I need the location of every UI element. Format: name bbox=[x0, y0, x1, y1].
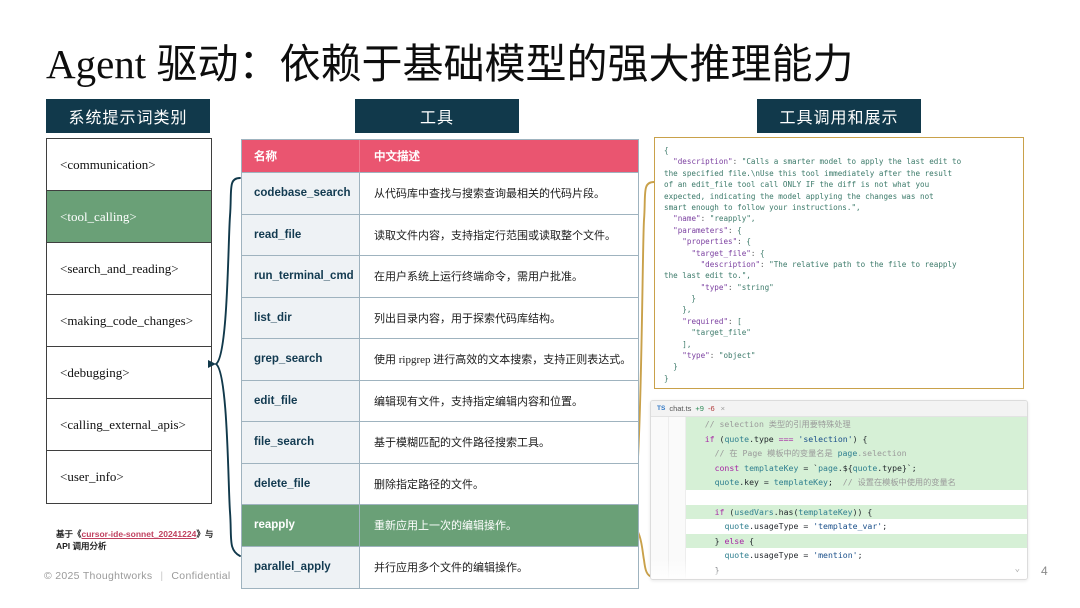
table-row[interactable]: read_file 读取文件内容，支持指定行范围或读取整个文件。 bbox=[242, 215, 638, 257]
category-list: <communication> <tool_calling> <search_a… bbox=[46, 138, 212, 504]
diff-line-added: // 在 Page 模板中的变量名是 page.selection bbox=[651, 446, 1027, 461]
editor-gutter-divider bbox=[668, 417, 669, 580]
tool-desc: 使用 ripgrep 进行高效的文本搜索，支持正则表达式。 bbox=[360, 339, 638, 380]
page-number: 4 bbox=[1041, 564, 1048, 578]
tool-desc: 重新应用上一次的编辑操作。 bbox=[360, 505, 638, 546]
tool-desc: 读取文件内容，支持指定行范围或读取整个文件。 bbox=[360, 215, 638, 256]
footer-separator: | bbox=[160, 570, 163, 582]
diff-line-added: quote.key = templateKey; // 设置在模板中使用的变量名 bbox=[651, 475, 1027, 490]
tool-desc: 在用户系统上运行终端命令，需用户批准。 bbox=[360, 256, 638, 297]
editor-tab-filename: chat.ts bbox=[669, 404, 691, 413]
tool-name: reapply bbox=[242, 505, 360, 546]
table-row-selected-reapply[interactable]: reapply 重新应用上一次的编辑操作。 bbox=[242, 505, 638, 547]
copyright-text: © 2025 Thoughtworks bbox=[44, 570, 152, 582]
category-item-debugging[interactable]: <debugging> bbox=[47, 347, 211, 399]
category-item-user-info[interactable]: <user_info> bbox=[47, 451, 211, 503]
category-item-communication[interactable]: <communication> bbox=[47, 139, 211, 191]
tool-name: list_dir bbox=[242, 298, 360, 339]
category-item-making-code-changes[interactable]: <making_code_changes> bbox=[47, 295, 211, 347]
table-row[interactable]: codebase_search 从代码库中查找与搜索查询最相关的代码片段。 bbox=[242, 173, 638, 215]
footnote-link[interactable]: cursor-ide-sonnet_20241224 bbox=[82, 529, 197, 539]
table-row[interactable]: grep_search 使用 ripgrep 进行高效的文本搜索，支持正则表达式… bbox=[242, 339, 638, 381]
section-header-tools: 工具 bbox=[355, 99, 519, 133]
category-item-tool-calling[interactable]: <tool_calling> bbox=[47, 191, 211, 243]
tool-name: file_search bbox=[242, 422, 360, 463]
tool-desc: 删除指定路径的文件。 bbox=[360, 464, 638, 505]
column-header-name: 名称 bbox=[242, 140, 360, 172]
tool-desc: 并行应用多个文件的编辑操作。 bbox=[360, 547, 638, 589]
diff-line-context: quote.usageType = 'template_var'; bbox=[651, 519, 1027, 534]
column-header-desc: 中文描述 bbox=[360, 140, 638, 172]
section-header-invocation: 工具调用和展示 bbox=[757, 99, 921, 133]
tool-name: delete_file bbox=[242, 464, 360, 505]
editor-fade-overlay bbox=[651, 559, 1027, 580]
table-header-row: 名称 中文描述 bbox=[242, 140, 638, 173]
tools-table: 名称 中文描述 codebase_search 从代码库中查找与搜索查询最相关的… bbox=[241, 139, 639, 589]
diff-deletions-count: -6 bbox=[708, 404, 715, 413]
diff-line-added: // selection 类型的引用要特殊处理 bbox=[651, 417, 1027, 432]
editor-body: // selection 类型的引用要特殊处理 if (quote.type =… bbox=[651, 417, 1027, 580]
tool-name: parallel_apply bbox=[242, 547, 360, 589]
diff-additions-count: +9 bbox=[695, 404, 704, 413]
tool-name: run_terminal_cmd bbox=[242, 256, 360, 297]
tool-desc: 从代码库中查找与搜索查询最相关的代码片段。 bbox=[360, 173, 638, 214]
slide: Agent 驱动：依赖于基础模型的强大推理能力 系统提示词类别 工具 工具调用和… bbox=[0, 0, 1080, 608]
category-item-search-and-reading[interactable]: <search_and_reading> bbox=[47, 243, 211, 295]
table-row[interactable]: file_search 基于模糊匹配的文件路径搜索工具。 bbox=[242, 422, 638, 464]
confidential-label: Confidential bbox=[171, 570, 230, 582]
editor-tab[interactable]: TS chat.ts +9 -6 × bbox=[651, 401, 1027, 417]
tool-name: grep_search bbox=[242, 339, 360, 380]
table-row[interactable]: parallel_apply 并行应用多个文件的编辑操作。 bbox=[242, 547, 638, 589]
json-schema-panel: { "description": "Calls a smarter model … bbox=[654, 137, 1024, 389]
table-row[interactable]: run_terminal_cmd 在用户系统上运行终端命令，需用户批准。 bbox=[242, 256, 638, 298]
diff-line-added: } else { bbox=[651, 534, 1027, 549]
tool-desc: 列出目录内容，用于探索代码库结构。 bbox=[360, 298, 638, 339]
footer: © 2025 Thoughtworks|Confidential bbox=[44, 570, 230, 582]
diff-line-context bbox=[651, 490, 1027, 505]
code-diff-editor: TS chat.ts +9 -6 × // selection 类型的引用要特殊… bbox=[650, 400, 1028, 580]
tool-desc: 编辑现有文件，支持指定编辑内容和位置。 bbox=[360, 381, 638, 422]
tool-name: edit_file bbox=[242, 381, 360, 422]
json-schema-code: { "description": "Calls a smarter model … bbox=[664, 145, 1014, 384]
footnote-prefix: 基于《 bbox=[56, 529, 82, 539]
chevron-down-icon[interactable]: ⌄ bbox=[1015, 562, 1020, 577]
table-row[interactable]: delete_file 删除指定路径的文件。 bbox=[242, 464, 638, 506]
category-item-calling-external-apis[interactable]: <calling_external_apis> bbox=[47, 399, 211, 451]
footnote: 基于《cursor-ide-sonnet_20241224》与 API 调用分析 bbox=[56, 528, 216, 553]
typescript-icon: TS bbox=[657, 405, 665, 412]
diff-line-added: if (usedVars.has(templateKey)) { bbox=[651, 505, 1027, 520]
close-icon[interactable]: × bbox=[721, 404, 725, 413]
table-row[interactable]: list_dir 列出目录内容，用于探索代码库结构。 bbox=[242, 298, 638, 340]
section-header-categories: 系统提示词类别 bbox=[46, 99, 210, 133]
diff-line-added: if (quote.type === 'selection') { bbox=[651, 432, 1027, 447]
tool-name: read_file bbox=[242, 215, 360, 256]
diff-line-added: const templateKey = `page.${quote.type}`… bbox=[651, 461, 1027, 476]
table-row[interactable]: edit_file 编辑现有文件，支持指定编辑内容和位置。 bbox=[242, 381, 638, 423]
tool-desc: 基于模糊匹配的文件路径搜索工具。 bbox=[360, 422, 638, 463]
tool-name: codebase_search bbox=[242, 173, 360, 214]
page-title: Agent 驱动：依赖于基础模型的强大推理能力 bbox=[46, 30, 853, 90]
